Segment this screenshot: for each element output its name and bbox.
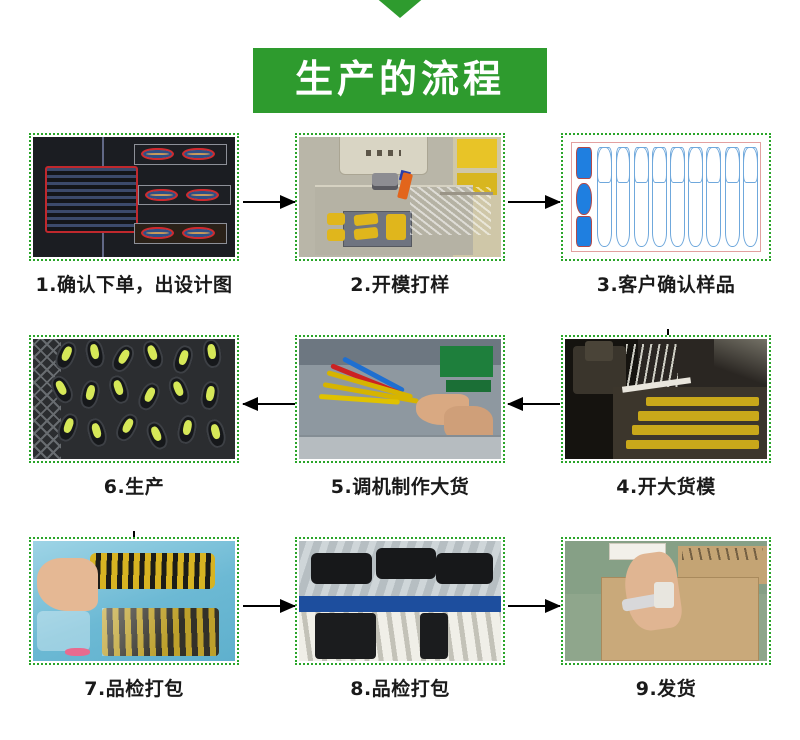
- rubber-part: [108, 341, 138, 375]
- flow-step-1-thumbnail[interactable]: [29, 133, 239, 261]
- flow-step-4[interactable]: 4.开大货模: [533, 335, 799, 499]
- heater-pad: [182, 227, 215, 239]
- taping-carton-image: [565, 541, 767, 661]
- cnc-mold-machining-image: [299, 137, 501, 257]
- flow-step-9[interactable]: 9.发货: [533, 537, 799, 701]
- tape-dispenser: [654, 582, 674, 608]
- cad-filled-part: [576, 183, 592, 215]
- cad-column-top: [688, 147, 703, 183]
- black-packed-bag: [376, 548, 437, 579]
- cad-column-top: [652, 147, 667, 183]
- heater-strip-graphic: [134, 144, 227, 164]
- process-flow: 1.确认下单，出设计图: [0, 133, 800, 739]
- heater-pad: [141, 148, 174, 160]
- heater-strip-graphic: [134, 223, 227, 243]
- flow-step-6[interactable]: 6.生产: [1, 335, 267, 499]
- yellow-rubber-sheet: [626, 440, 759, 450]
- flow-step-5-thumbnail[interactable]: [295, 335, 505, 463]
- handwritten-marking: [682, 548, 763, 560]
- spindle: [372, 173, 398, 190]
- page-title: 生产的流程: [253, 48, 547, 113]
- green-circuit-board: [446, 380, 490, 392]
- flow-step-6-thumbnail[interactable]: [29, 335, 239, 463]
- yellow-rubber-sheet: [638, 411, 759, 421]
- gold-insert: [353, 213, 378, 226]
- machine-setup-image: [299, 339, 501, 459]
- worker-arm: [37, 558, 98, 611]
- cad-column-top: [634, 147, 649, 183]
- flow-step-4-caption: 4.开大货模: [616, 472, 715, 499]
- rubber-part: [143, 418, 171, 452]
- rubber-part: [166, 374, 194, 408]
- heater-pad: [182, 148, 215, 160]
- green-circuit-board: [440, 346, 493, 377]
- flow-step-6-caption: 6.生产: [104, 472, 164, 499]
- flow-step-5-caption: 5.调机制作大货: [331, 472, 469, 499]
- flow-row-1: 1.确认下单，出设计图: [0, 133, 800, 335]
- yellow-block: [457, 139, 497, 168]
- flow-step-9-thumbnail[interactable]: [561, 537, 771, 665]
- flow-step-3-caption: 3.客户确认样品: [597, 270, 735, 297]
- flow-step-5[interactable]: 5.调机制作大货: [267, 335, 533, 499]
- workbench: [299, 437, 501, 459]
- machine-rail: [440, 192, 493, 195]
- press-barrel-top: [585, 341, 613, 360]
- flow-step-1[interactable]: 1.确认下单，出设计图: [1, 133, 267, 297]
- rubber-part: [201, 339, 223, 369]
- rubber-part: [135, 380, 164, 414]
- flow-step-8-thumbnail[interactable]: [295, 537, 505, 665]
- heater-pad: [186, 189, 219, 201]
- heater-panel-graphic: [45, 166, 138, 233]
- top-arrow-container: [0, 0, 800, 22]
- flow-row-3: 7.品检打包 8.品检打包: [0, 537, 800, 739]
- bulk-mold-press-image: [565, 339, 767, 459]
- yellow-rubber-sheet: [632, 425, 759, 435]
- packed-bags-pallet-image: [299, 541, 501, 661]
- heater-pad: [145, 189, 178, 201]
- cad-filled-part: [576, 147, 592, 179]
- heater-strip-graphic: [138, 185, 231, 205]
- bag-film-sheen: [102, 608, 219, 656]
- down-triangle-icon: [374, 0, 426, 18]
- arrow-step2-to-step3: [508, 201, 560, 203]
- heater-element-design-image: [33, 137, 235, 257]
- flow-step-1-caption: 1.确认下单，出设计图: [36, 270, 233, 297]
- cad-column-top: [706, 147, 721, 183]
- flow-step-7-caption: 7.品检打包: [84, 674, 183, 701]
- yellow-parts-stack: [90, 553, 215, 589]
- rubber-part: [176, 413, 200, 445]
- cad-column-top: [743, 147, 758, 183]
- arrow-step7-to-step8: [243, 605, 295, 607]
- rubber-part: [83, 339, 107, 369]
- produced-parts-image: [33, 339, 235, 459]
- flow-row-2: 6.生产 5.调机制作大货: [0, 335, 800, 537]
- blue-pallet-rail: [299, 596, 501, 612]
- flow-step-2[interactable]: 2.开模打样: [267, 133, 533, 297]
- cad-layout-drawing-image: [565, 137, 767, 257]
- rubber-part: [198, 380, 221, 412]
- arrow-step5-to-step6: [243, 403, 295, 405]
- hand-packing-image: [33, 541, 235, 661]
- rubber-part: [84, 416, 109, 449]
- rubber-part: [140, 339, 167, 371]
- cad-column-top: [725, 147, 740, 183]
- gold-insert: [327, 213, 345, 225]
- cad-column-top: [670, 147, 685, 183]
- machine-head: [339, 137, 428, 175]
- rubber-part: [204, 418, 229, 450]
- black-packed-bag: [436, 553, 493, 584]
- cad-filled-part: [576, 216, 592, 247]
- plastic-bag: [37, 611, 90, 652]
- flow-step-8-caption: 8.品检打包: [350, 674, 449, 701]
- heater-pad: [141, 227, 174, 239]
- pink-label: [65, 648, 89, 656]
- cad-column-top: [597, 147, 612, 183]
- flow-step-2-thumbnail[interactable]: [295, 133, 505, 261]
- flow-step-7[interactable]: 7.品检打包: [1, 537, 267, 701]
- arrow-step8-to-step9: [508, 605, 560, 607]
- rubber-part: [78, 378, 103, 410]
- flow-step-9-caption: 9.发货: [636, 674, 696, 701]
- black-packed-bag: [420, 613, 448, 659]
- arrow-step1-to-step2: [243, 201, 295, 203]
- flow-step-3[interactable]: 3.客户确认样品: [533, 133, 799, 297]
- light-glare: [714, 339, 767, 387]
- flow-step-2-caption: 2.开模打样: [350, 270, 449, 297]
- arrow-step4-to-step5: [508, 403, 560, 405]
- flow-step-7-thumbnail[interactable]: [29, 537, 239, 665]
- cad-column-top: [616, 147, 631, 183]
- gold-insert: [386, 214, 406, 240]
- black-packed-bag: [311, 553, 372, 584]
- rubber-part: [106, 373, 132, 406]
- flow-step-8[interactable]: 8.品检打包: [267, 537, 533, 701]
- rubber-part: [170, 343, 196, 376]
- head-detail: [366, 150, 401, 157]
- gold-insert: [327, 229, 345, 241]
- black-packed-bag: [315, 613, 376, 659]
- title-container: 生产的流程: [0, 48, 800, 113]
- flow-step-4-thumbnail[interactable]: [561, 335, 771, 463]
- flow-step-3-thumbnail[interactable]: [561, 133, 771, 261]
- yellow-rubber-sheet: [646, 397, 759, 407]
- rubber-part: [112, 411, 142, 445]
